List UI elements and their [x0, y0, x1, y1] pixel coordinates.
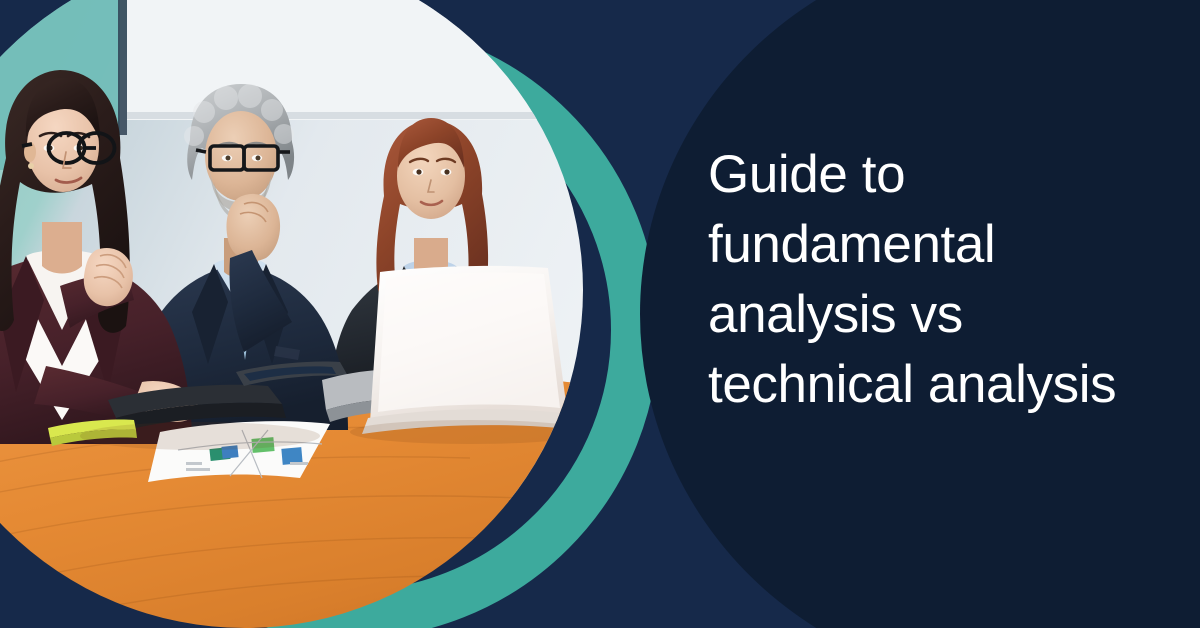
- page-title: Guide to fundamental analysis vs technic…: [708, 140, 1138, 420]
- face-center: [205, 111, 277, 201]
- panel-frame: [118, 0, 127, 135]
- laptop-main: [362, 266, 578, 434]
- earring: [28, 163, 34, 169]
- banner-root: Guide to fundamental analysis vs technic…: [0, 0, 1200, 628]
- hand-at-chin: [226, 194, 280, 261]
- headline-block: Guide to fundamental analysis vs technic…: [708, 140, 1138, 420]
